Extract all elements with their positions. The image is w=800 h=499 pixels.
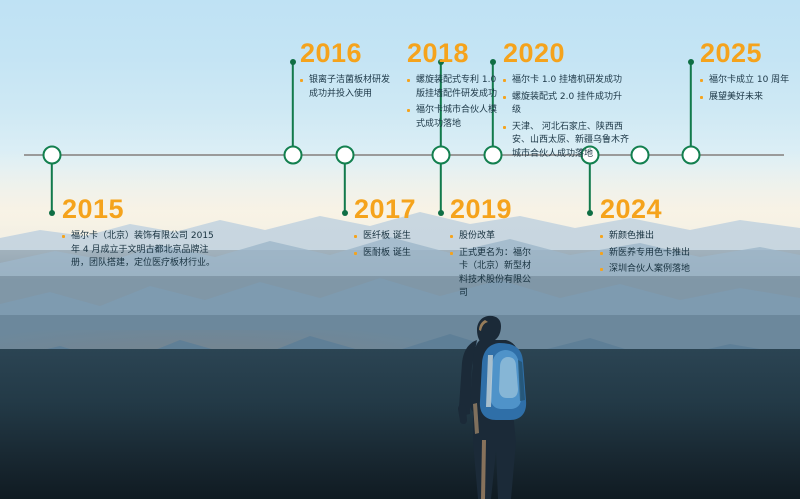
milestone-items-2025: 福尔卡成立 10 周年 展望美好未来 xyxy=(700,74,796,104)
stem-2016 xyxy=(292,62,294,155)
milestone-year-2017: 2017 xyxy=(354,196,442,223)
milestone-items-2020: 福尔卡 1.0 挂墙机研发成功 螺旋装配式 2.0 挂件成功升级 天津、 河北石… xyxy=(503,74,631,161)
milestone-card-2019[interactable]: 2019 股份改革 正式更名为：福尔卡（北京）新型材料技术股份有限公司 xyxy=(450,196,532,304)
hiker-figure xyxy=(425,300,565,499)
milestone-items-2015: 福尔卡（北京）装饰有限公司 2015 年 4 月成立于文明古都北京品牌注册，团队… xyxy=(62,230,220,271)
list-item: 深圳合伙人案例落地 xyxy=(600,263,712,277)
list-item: 银离子洁菌板材研发成功并投入使用 xyxy=(300,74,392,101)
foreground-summit xyxy=(0,349,800,499)
milestone-year-2015: 2015 xyxy=(62,196,220,223)
milestone-items-2017: 医纤板 诞生 医耐板 诞生 xyxy=(354,230,442,260)
milestone-items-2018: 螺旋装配式专利 1.0 版挂墙配件研发成功 福尔卡城市合伙人模式成功落地 xyxy=(407,74,505,131)
milestone-card-2017[interactable]: 2017 医纤板 诞生 医耐板 诞生 xyxy=(354,196,442,263)
milestone-items-2019: 股份改革 正式更名为：福尔卡（北京）新型材料技术股份有限公司 xyxy=(450,230,532,301)
list-item: 医耐板 诞生 xyxy=(354,247,442,261)
milestone-year-2024: 2024 xyxy=(600,196,712,223)
timeline-node-2024[interactable] xyxy=(631,146,650,165)
milestone-year-2016: 2016 xyxy=(300,40,392,67)
stem-dot-2024 xyxy=(587,210,593,216)
timeline-node-2025[interactable] xyxy=(682,146,701,165)
list-item: 医纤板 诞生 xyxy=(354,230,442,244)
milestone-card-2015[interactable]: 2015 福尔卡（北京）装饰有限公司 2015 年 4 月成立于文明古都北京品牌… xyxy=(62,196,220,274)
timeline-axis xyxy=(24,154,784,156)
list-item: 福尔卡城市合伙人模式成功落地 xyxy=(407,104,505,131)
milestone-card-2025[interactable]: 2025 福尔卡成立 10 周年 展望美好未来 xyxy=(700,40,796,107)
list-item: 天津、 河北石家庄、陕西西安、山西太原、新疆乌鲁木齐城市合伙人成功落地 xyxy=(503,121,631,162)
stem-2025 xyxy=(690,62,692,155)
list-item: 股份改革 xyxy=(450,230,532,244)
timeline-node-2015[interactable] xyxy=(43,146,62,165)
list-item: 螺旋装配式 2.0 挂件成功升级 xyxy=(503,91,631,118)
stem-dot-2016 xyxy=(290,59,296,65)
list-item: 螺旋装配式专利 1.0 版挂墙配件研发成功 xyxy=(407,74,505,101)
list-item: 福尔卡成立 10 周年 xyxy=(700,74,796,88)
list-item: 新颜色推出 xyxy=(600,230,712,244)
milestone-year-2020: 2020 xyxy=(503,40,631,67)
timeline-infographic: 2015 福尔卡（北京）装饰有限公司 2015 年 4 月成立于文明古都北京品牌… xyxy=(0,0,800,499)
timeline-node-2019[interactable] xyxy=(484,146,503,165)
stem-dot-2017 xyxy=(342,210,348,216)
list-item: 新医养专用色卡推出 xyxy=(600,247,712,261)
timeline-node-2017[interactable] xyxy=(336,146,355,165)
list-item: 正式更名为：福尔卡（北京）新型材料技术股份有限公司 xyxy=(450,247,532,301)
list-item: 展望美好未来 xyxy=(700,91,796,105)
milestone-year-2025: 2025 xyxy=(700,40,796,67)
milestone-card-2020[interactable]: 2020 福尔卡 1.0 挂墙机研发成功 螺旋装配式 2.0 挂件成功升级 天津… xyxy=(503,40,631,164)
timeline-node-2016[interactable] xyxy=(284,146,303,165)
list-item: 福尔卡（北京）装饰有限公司 2015 年 4 月成立于文明古都北京品牌注册，团队… xyxy=(62,230,220,271)
list-item: 福尔卡 1.0 挂墙机研发成功 xyxy=(503,74,631,88)
milestone-items-2016: 银离子洁菌板材研发成功并投入使用 xyxy=(300,74,392,101)
timeline-node-2018[interactable] xyxy=(432,146,451,165)
milestone-card-2016[interactable]: 2016 银离子洁菌板材研发成功并投入使用 xyxy=(300,40,392,104)
milestone-card-2018[interactable]: 2018 螺旋装配式专利 1.0 版挂墙配件研发成功 福尔卡城市合伙人模式成功落… xyxy=(407,40,505,134)
stem-dot-2015 xyxy=(49,210,55,216)
stem-dot-2025 xyxy=(688,59,694,65)
milestone-year-2018: 2018 xyxy=(407,40,505,67)
milestone-items-2024: 新颜色推出 新医养专用色卡推出 深圳合伙人案例落地 xyxy=(600,230,712,277)
milestone-card-2024[interactable]: 2024 新颜色推出 新医养专用色卡推出 深圳合伙人案例落地 xyxy=(600,196,712,280)
milestone-year-2019: 2019 xyxy=(450,196,532,223)
